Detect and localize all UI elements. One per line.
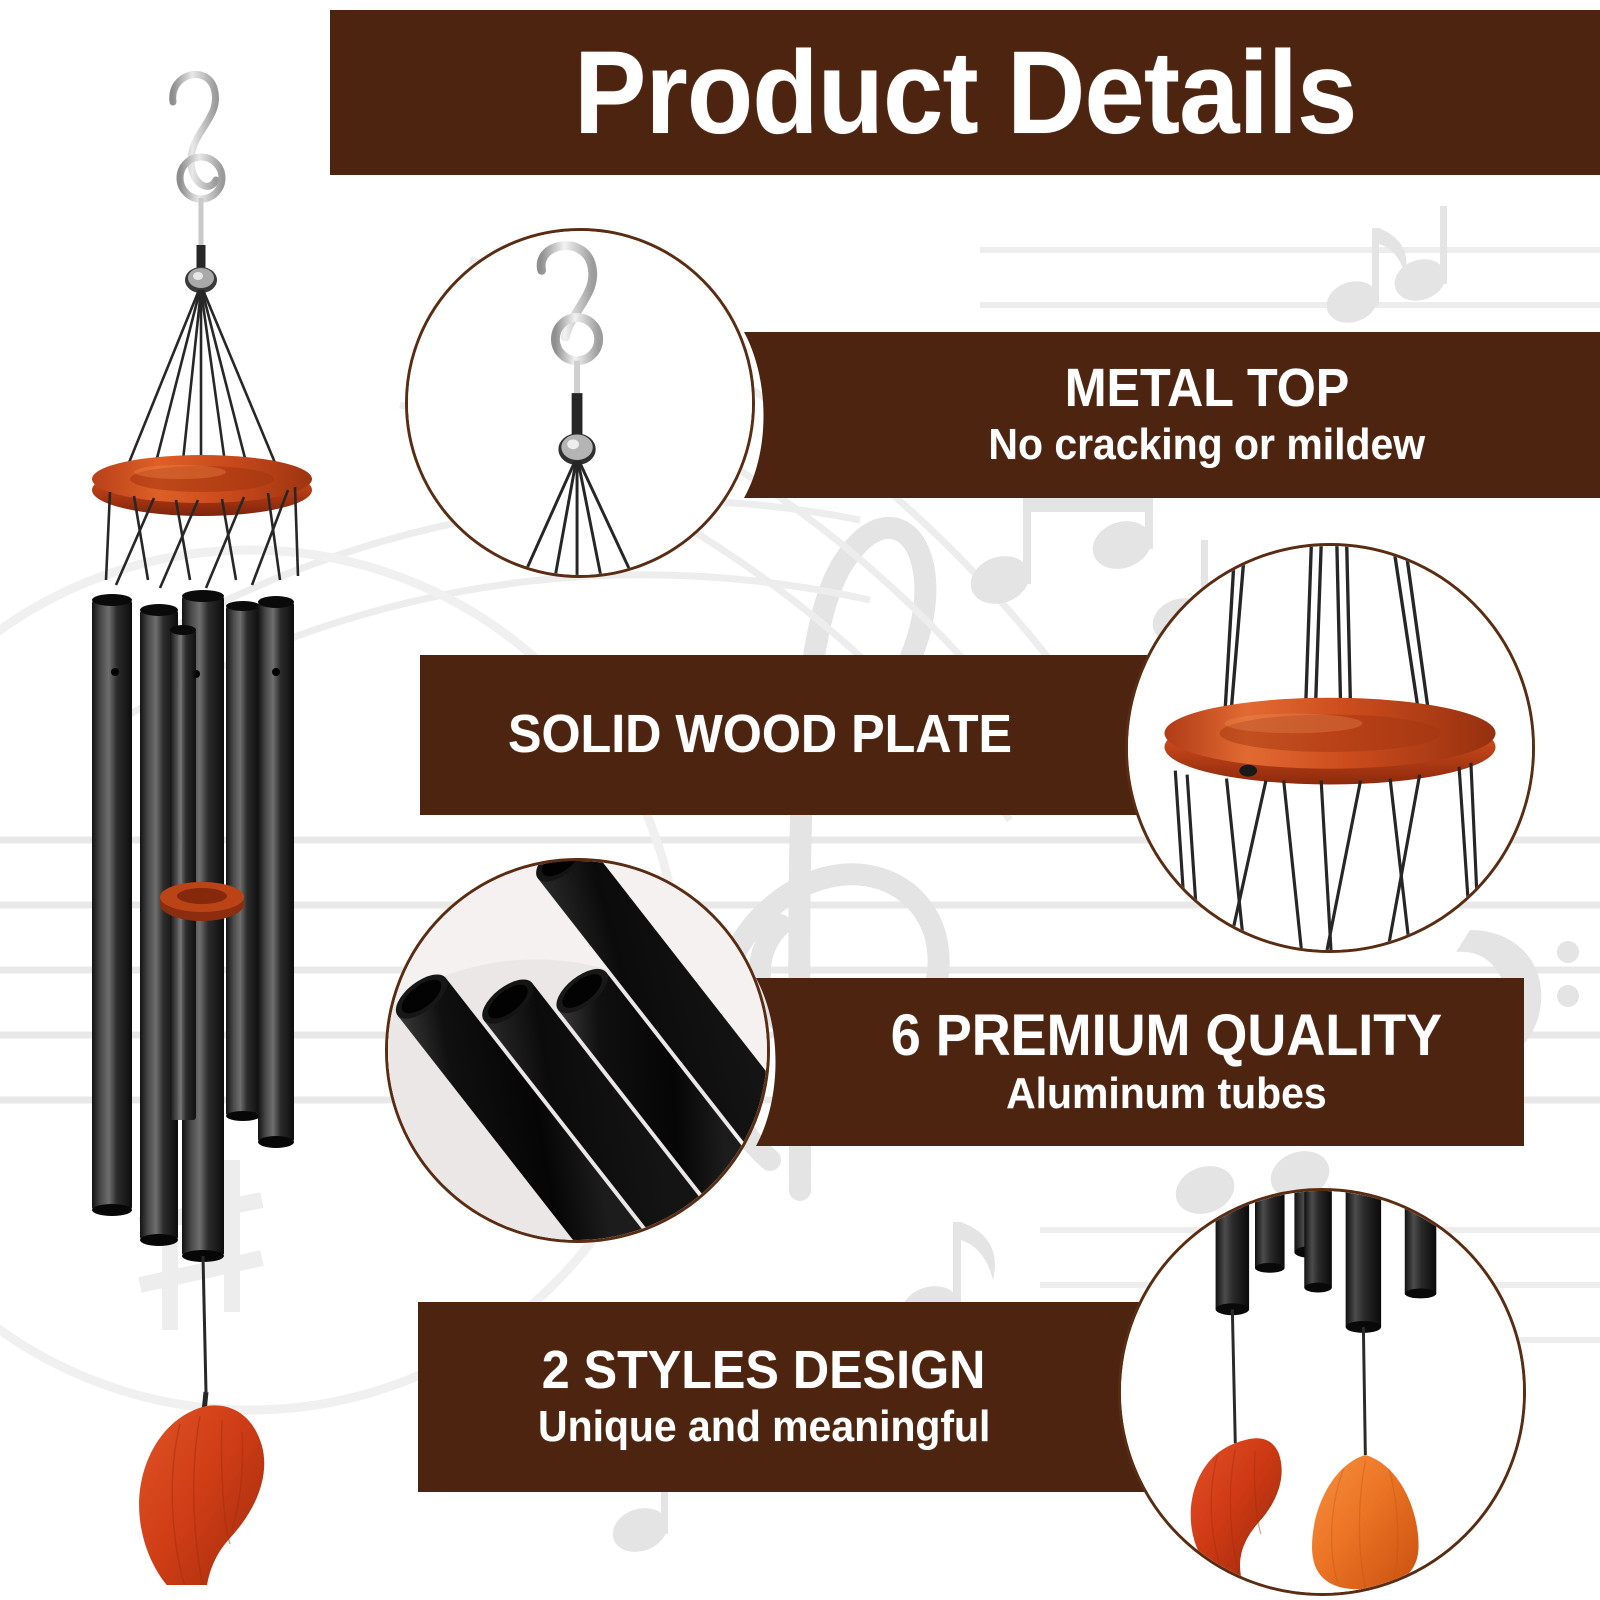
wood-plate-ring [1164,698,1495,785]
metal-top-hook-photo [405,228,755,578]
wind-catcher-styles-photo [1118,1188,1526,1596]
feature-title-metal-top: METAL TOP [1065,361,1350,416]
aluminum-tubes-photo [385,858,770,1243]
wood-plate-photo [1125,543,1535,953]
feature-subtitle-two-styles: Unique and meaningful [538,1404,990,1450]
feature-title-solid-wood-plate: SOLID WOOD PLATE [508,707,1012,762]
feature-banner-solid-wood-plate: SOLID WOOD PLATE [420,655,1160,815]
page-title: Product Details [574,34,1356,152]
product-hook [173,74,222,199]
feature-banner-metal-top: METAL TOP No cracking or mildew [744,332,1600,498]
feature-banner-two-styles: 2 STYLES DESIGN Unique and meaningful [418,1302,1166,1492]
product-wind-catcher [139,1392,264,1585]
feature-subtitle-premium-quality: Aluminum tubes [1006,1071,1327,1117]
feature-subtitle-metal-top: No cracking or mildew [989,422,1426,468]
feature-banner-premium-quality: 6 PREMIUM QUALITY Aluminum tubes [756,978,1524,1146]
metal-bead-icon [558,433,595,464]
product-bead [185,267,217,293]
page-title-banner: Product Details [330,10,1600,175]
feature-title-two-styles: 2 STYLES DESIGN [542,1343,986,1398]
infographic-canvas: Product Details METAL TOP No cracking or… [0,0,1600,1600]
product-clapper [160,882,244,921]
main-product-image [30,40,360,1585]
feature-title-premium-quality: 6 PREMIUM QUALITY [890,1006,1441,1065]
product-tubes [92,590,294,1262]
product-wood-plate [92,455,312,516]
